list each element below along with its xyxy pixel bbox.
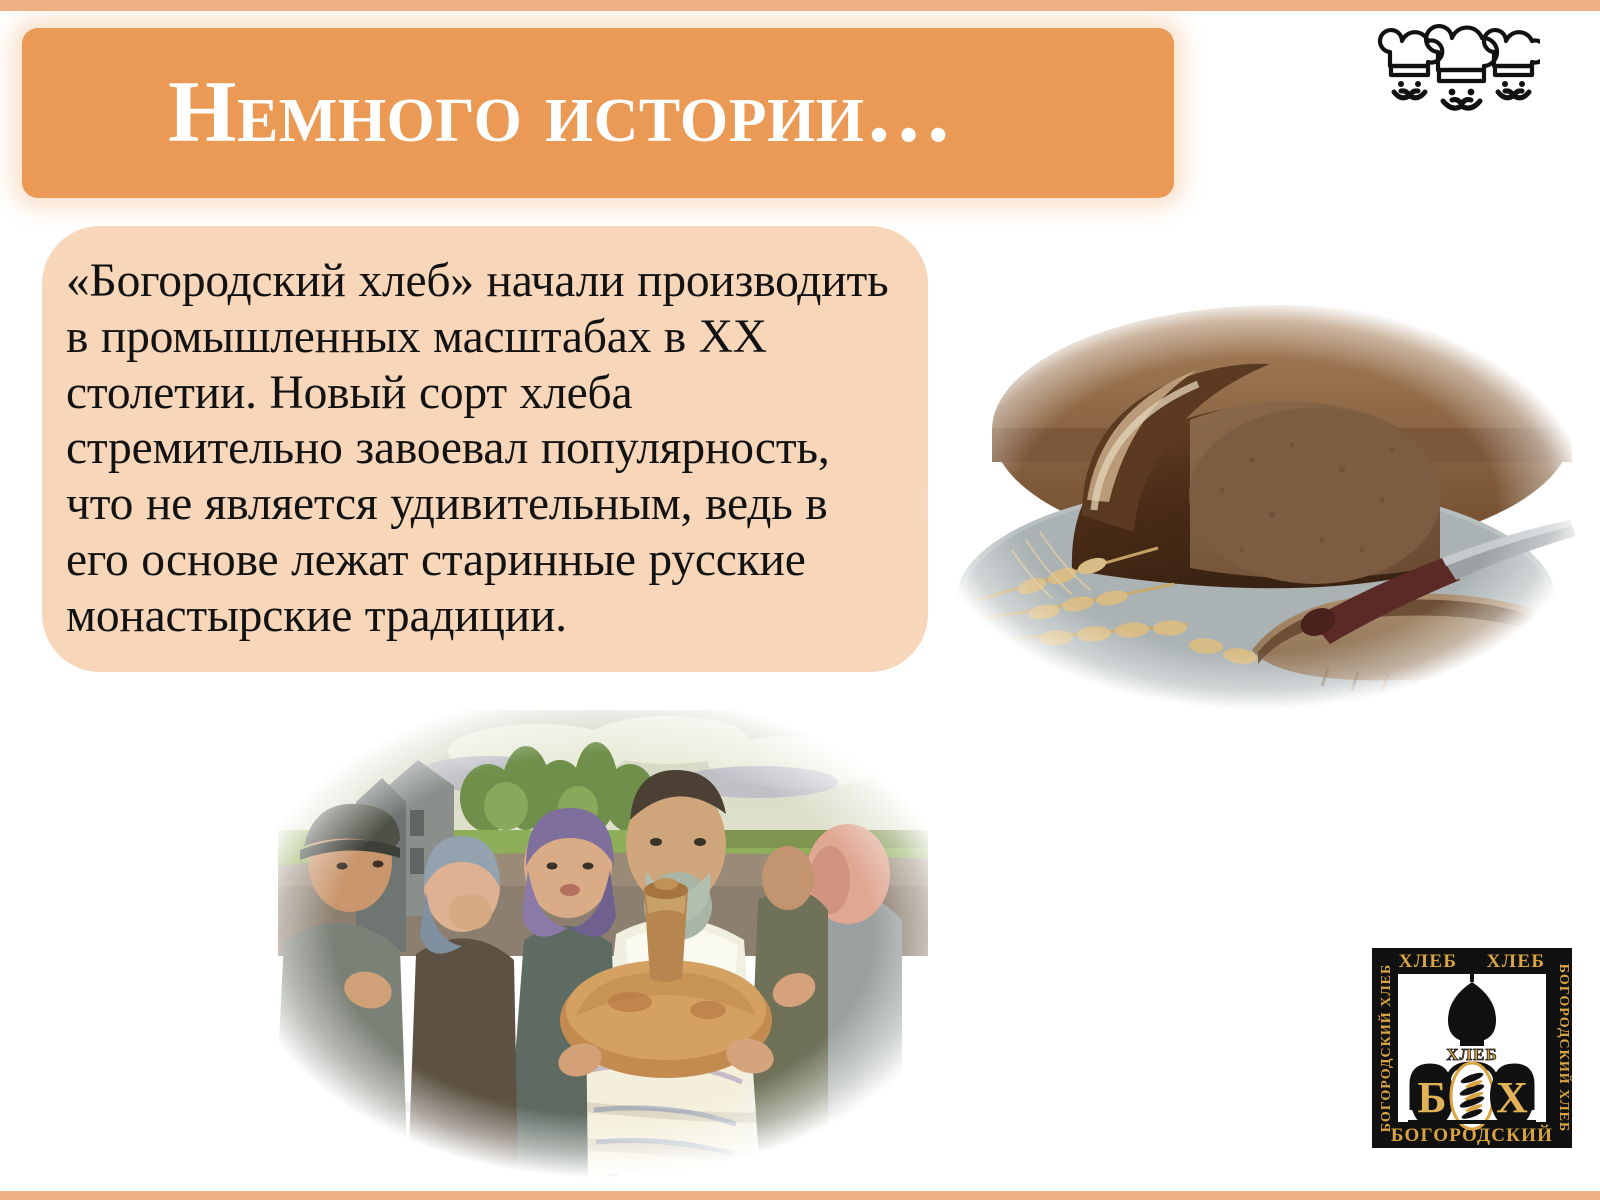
logo-monogram-left: Б	[1417, 1073, 1446, 1122]
title-banner: Немного истории…	[22, 28, 1174, 198]
logo-banner-text: ХЛЕБ	[1446, 1045, 1498, 1064]
rye-bread-photo	[922, 300, 1590, 710]
three-chefs-icon	[1372, 22, 1540, 118]
bread-and-salt-painting	[238, 690, 968, 1178]
logo-frame-left: БОГОРОДСКИЙ ХЛЕБ	[1377, 964, 1394, 1132]
body-text-card: «Богородский хлеб» начали производить в …	[42, 226, 928, 672]
slide-title: Немного истории…	[168, 69, 953, 157]
bottom-accent-strip	[0, 1191, 1600, 1200]
logo-monogram-right: Х	[1496, 1073, 1528, 1122]
slide-canvas: Немного истории…	[0, 0, 1600, 1200]
top-accent-strip	[0, 0, 1600, 11]
logo-frame-right: БОГОРОДСКИЙ ХЛЕБ	[1556, 964, 1573, 1132]
bogorodsky-hleb-logo: ХЛЕБ ХЛЕБ БОГОРОДСКИЙ БОГОРОДСКИЙ ХЛЕБ Б…	[1368, 944, 1576, 1152]
logo-frame-top-right: ХЛЕБ	[1487, 951, 1546, 972]
logo-frame-top-left: ХЛЕБ	[1399, 951, 1458, 972]
body-paragraph: «Богородский хлеб» начали производить в …	[66, 254, 894, 645]
